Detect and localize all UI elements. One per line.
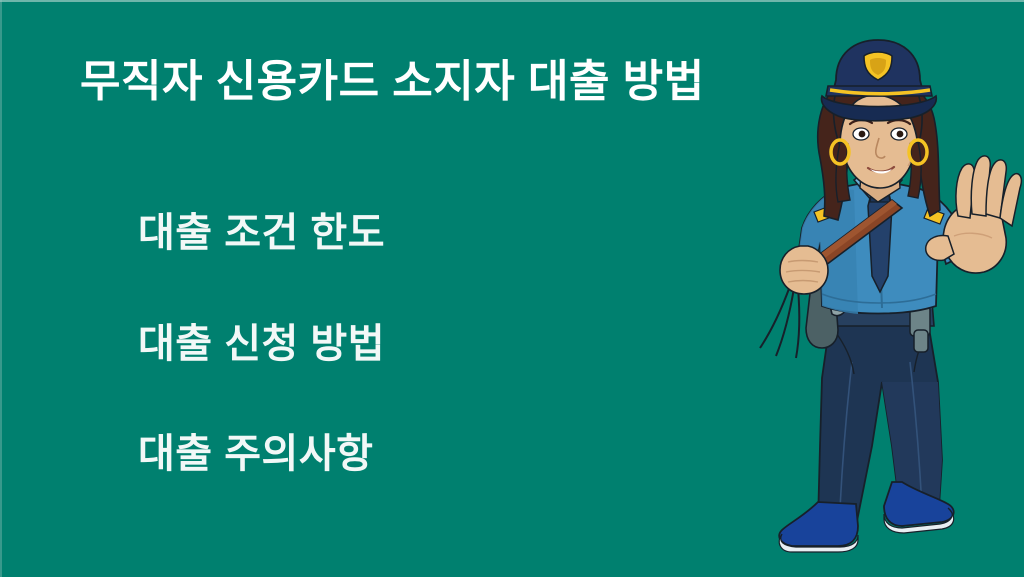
text-content-block: 무직자 신용카드 소지자 대출 방법 대출 조건 한도 대출 신청 방법 대출 …: [0, 0, 800, 577]
gripping-hand: [780, 246, 828, 294]
bullet-item-cautions: 대출 주의사항: [138, 430, 373, 478]
police-cap: [822, 40, 937, 121]
slide-canvas: 무직자 신용카드 소지자 대출 방법 대출 조건 한도 대출 신청 방법 대출 …: [0, 0, 1024, 577]
bullet-item-loan-conditions: 대출 조건 한도: [138, 209, 385, 257]
bullet-item-application-method: 대출 신청 방법: [138, 320, 385, 368]
police-officer-illustration: [742, 30, 1024, 577]
page-title: 무직자 신용카드 소지자 대출 방법: [80, 56, 705, 109]
